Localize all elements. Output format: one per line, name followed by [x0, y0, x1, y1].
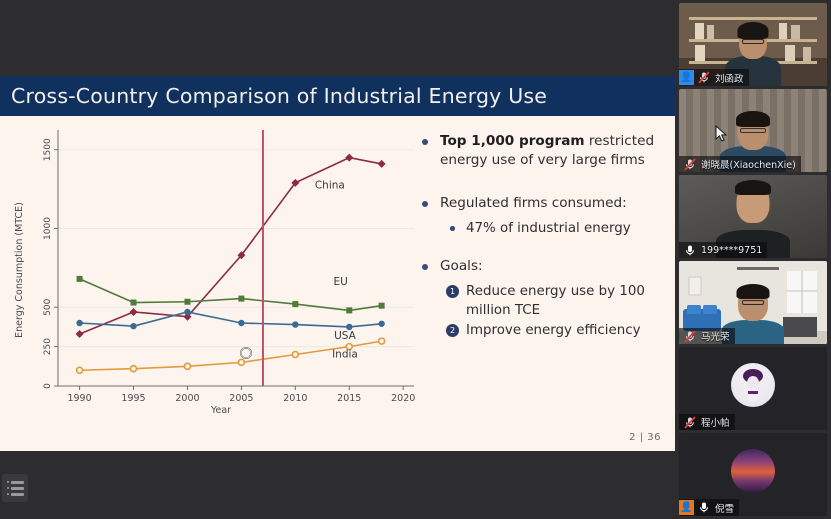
participant-name: 马光荣 [699, 329, 730, 343]
energy-consumption-line-chart: ChinaEUUSAIndia 025050010001500199019952… [6, 120, 421, 420]
person-glyph: 👤 [680, 73, 692, 83]
x-tick-label: 2000 [175, 393, 199, 404]
slide-page-indicator: 2 | 36 [629, 432, 661, 443]
participant-name: 程小帕 [699, 415, 730, 429]
glasses-icon [742, 300, 764, 305]
list-dot-icon [7, 487, 9, 489]
x-tick-label: 2020 [391, 393, 415, 404]
person-hair [738, 22, 769, 39]
participant-namebar: 谢晓晨(XiaochenXie) [679, 156, 801, 172]
list-bar-icon [11, 487, 24, 490]
mic-unmuted-icon [683, 243, 696, 257]
mic-muted-icon [683, 329, 696, 343]
thumbnail-list-toggle-button[interactable] [2, 474, 28, 502]
spacer [416, 241, 668, 257]
participant-namebar: 👤 倪雪 [679, 499, 739, 516]
slide-title-bar: Cross-Country Comparison of Industrial E… [0, 76, 675, 116]
x-tick-label: 2005 [229, 393, 253, 404]
participant-tile[interactable]: 👤 倪雪 [679, 433, 827, 516]
mic-muted-icon [697, 71, 710, 85]
bullet-dot-icon [422, 139, 428, 145]
presentation-slide[interactable]: Cross-Country Comparison of Industrial E… [0, 76, 675, 451]
meeting-screen-share-window: Cross-Country Comparison of Industrial E… [0, 0, 831, 519]
list-dot-icon [7, 481, 9, 483]
host-badge-icon: 👤 [679, 500, 694, 515]
bullet-text-1: Top 1,000 program restricted energy use … [440, 132, 668, 170]
list-dot-icon [7, 493, 9, 495]
participant-name: 199****9751 [699, 245, 762, 256]
host-badge-icon: 👤 [679, 70, 694, 85]
page-title: Cross-Country Comparison of Industrial E… [0, 84, 547, 108]
sub-bullet-text: 47% of industrial energy [466, 219, 668, 238]
participant-namebar: 马光荣 [679, 328, 735, 344]
series-label-usa: USA [334, 330, 357, 342]
bullet-sub-47-percent: 47% of industrial energy [416, 219, 668, 238]
goal-text-2: Improve energy efficiency [466, 321, 668, 340]
goal-item-2: 2 Improve energy efficiency [416, 321, 668, 340]
bullet-regulated-firms: Regulated firms consumed: [416, 194, 668, 213]
bullet-dot-icon [422, 201, 428, 207]
toggle-row [7, 487, 24, 490]
mic-unmuted-icon [697, 501, 710, 515]
goal-number-badge-2: 2 [446, 324, 459, 337]
sub-bullet-dot-icon [450, 226, 455, 231]
x-tick-label: 1990 [67, 393, 91, 404]
chart-x-axis-label: Year [210, 405, 231, 416]
person-hair [736, 111, 770, 127]
x-tick-label: 1995 [121, 393, 145, 404]
mouse-cursor-icon [715, 125, 728, 143]
chart-svg: ChinaEUUSAIndia 025050010001500199019952… [6, 120, 421, 420]
participant-name: 谢晓晨(XiaochenXie) [699, 157, 796, 171]
participant-tile[interactable]: 👤 刘函政 [679, 3, 827, 86]
goal-text-1: Reduce energy use by 100 million TCE [466, 282, 668, 320]
bullet-dot-icon [422, 264, 428, 270]
bullet-text-3: Goals: [440, 257, 668, 276]
participant-namebar: 程小帕 [679, 414, 735, 430]
toggle-row [7, 481, 24, 484]
person-hair [737, 284, 770, 299]
participant-tile[interactable]: 程小帕 [679, 347, 827, 430]
x-tick-label: 2010 [283, 393, 307, 404]
y-tick-label: 1000 [43, 217, 53, 240]
slide-body: ChinaEUUSAIndia 025050010001500199019952… [0, 116, 675, 451]
participant-name: 刘函政 [713, 71, 744, 85]
goal-number-badge-1: 1 [446, 285, 459, 298]
bullet-1-bold: Top 1,000 program [440, 133, 585, 149]
participant-tile-active-speaker[interactable]: 199****9751 [679, 175, 827, 258]
toggle-row [7, 493, 24, 496]
mic-muted-icon [683, 157, 696, 171]
y-tick-label: 0 [43, 383, 53, 389]
participant-name: 倪雪 [713, 501, 734, 515]
participant-namebar: 199****9751 [679, 242, 767, 258]
series-label-india: India [332, 349, 358, 361]
person-glyph: 👤 [680, 503, 692, 513]
mic-muted-icon [683, 415, 696, 429]
bullet-text-2: Regulated firms consumed: [440, 194, 668, 213]
glasses-icon [742, 39, 764, 44]
x-tick-label: 2015 [337, 393, 361, 404]
goal-item-1: 1 Reduce energy use by 100 million TCE [416, 282, 668, 320]
y-tick-label: 1500 [43, 138, 53, 161]
bullet-top-1000-program: Top 1,000 program restricted energy use … [416, 132, 668, 170]
participant-namebar: 👤 刘函政 [679, 69, 749, 86]
participant-tile[interactable]: 谢晓晨(XiaochenXie) [679, 89, 827, 172]
person-hair [735, 180, 771, 195]
y-tick-label: 250 [43, 338, 53, 355]
list-bar-icon [11, 481, 24, 484]
avatar [731, 363, 775, 407]
y-tick-label: 500 [43, 298, 53, 315]
series-label-china: China [315, 179, 345, 191]
glasses-icon [740, 128, 766, 133]
avatar-image [731, 449, 775, 493]
list-bar-icon [11, 493, 24, 496]
participant-tile[interactable]: 马光荣 [679, 261, 827, 344]
participant-video-filmstrip[interactable]: 👤 刘函政 [675, 0, 831, 519]
chart-y-axis-label: Energy Consumption (MTCE) [14, 202, 25, 338]
avatar-image [731, 363, 775, 407]
avatar [731, 449, 775, 493]
spacer [416, 176, 668, 194]
shared-screen-stage[interactable]: Cross-Country Comparison of Industrial E… [0, 0, 675, 519]
slide-bullet-list: Top 1,000 program restricted energy use … [416, 132, 668, 341]
bullet-goals: Goals: [416, 257, 668, 276]
series-label-eu: EU [333, 276, 347, 288]
